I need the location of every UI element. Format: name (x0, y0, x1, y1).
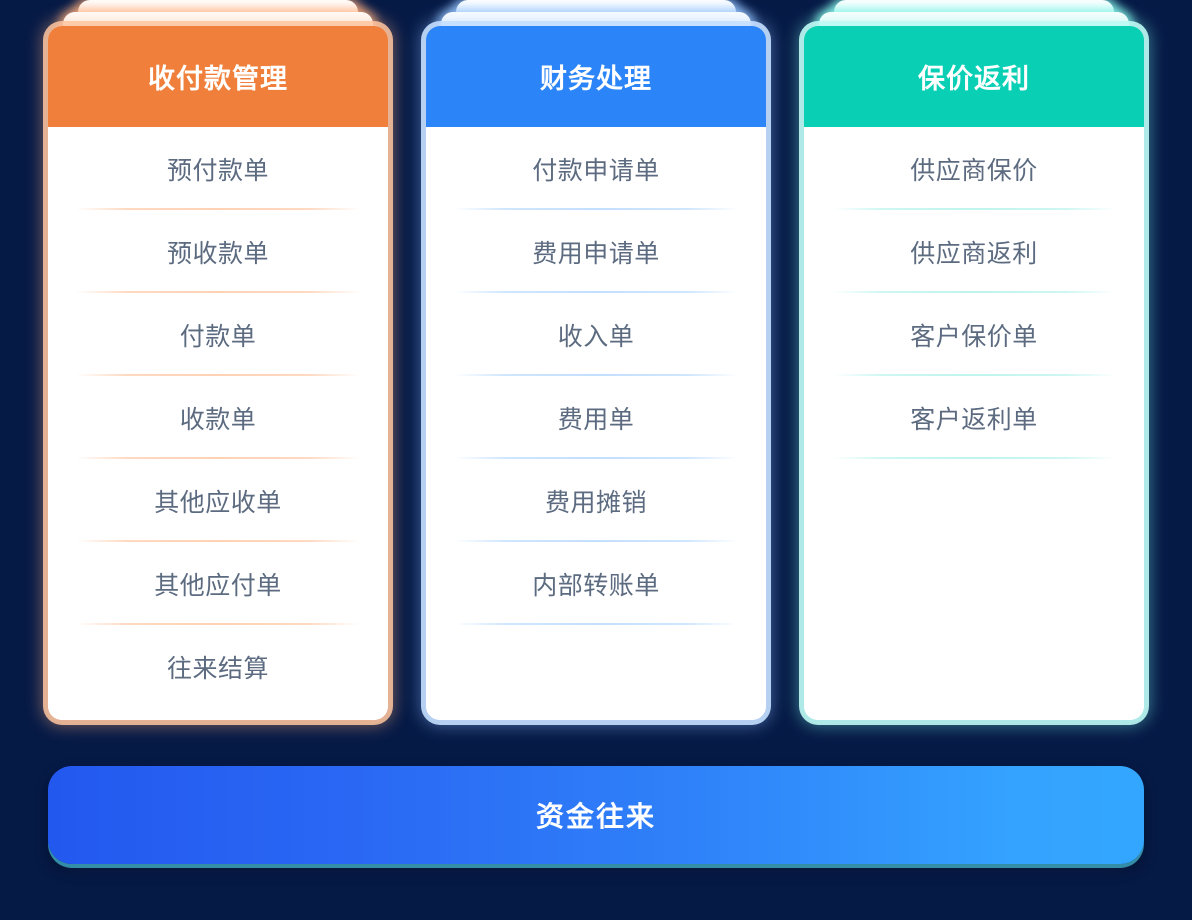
card-title: 财务处理 (540, 57, 652, 96)
card-price-protection-rebate[interactable]: 保价返利 供应商保价 供应商返利 客户保价单 客户返利单 (804, 26, 1144, 720)
card-header-price-protection-rebate: 保价返利 (804, 26, 1144, 127)
card-item-list-price-protection-rebate: 供应商保价 供应商返利 客户保价单 客户返利单 (804, 127, 1144, 720)
card-header-financial-processing: 财务处理 (426, 26, 766, 127)
card-title: 收付款管理 (148, 57, 288, 96)
card-title: 保价返利 (918, 57, 1030, 96)
footer-banner-funds-flow[interactable]: 资金往来 (48, 766, 1144, 864)
card-column-financial-processing: 财务处理 付款申请单 费用申请单 收入单 费用单 费用摊销 内部转账单 (426, 0, 766, 730)
list-item[interactable]: 收款单 (70, 376, 366, 459)
page-root: 收付款管理 预付款单 预收款单 付款单 收款单 其他应收单 其他应付单 往来结算 (0, 0, 1192, 920)
list-item[interactable]: 付款申请单 (448, 127, 744, 210)
card-item-list-financial-processing: 付款申请单 费用申请单 收入单 费用单 费用摊销 内部转账单 (426, 127, 766, 720)
list-item[interactable]: 内部转账单 (448, 542, 744, 625)
list-item[interactable]: 往来结算 (70, 625, 366, 708)
list-item[interactable]: 费用申请单 (448, 210, 744, 293)
list-item[interactable]: 收入单 (448, 293, 744, 376)
footer-banner-wrapper: 资金往来 (48, 766, 1144, 864)
card-header-receipts-payments: 收付款管理 (48, 26, 388, 127)
list-item[interactable]: 供应商返利 (826, 210, 1122, 293)
list-item[interactable]: 费用单 (448, 376, 744, 459)
list-item[interactable]: 预收款单 (70, 210, 366, 293)
footer-banner-label: 资金往来 (536, 795, 656, 835)
list-item[interactable]: 供应商保价 (826, 127, 1122, 210)
list-item[interactable]: 预付款单 (70, 127, 366, 210)
card-column-receipts-payments: 收付款管理 预付款单 预收款单 付款单 收款单 其他应收单 其他应付单 往来结算 (48, 0, 388, 730)
card-item-list-receipts-payments: 预付款单 预收款单 付款单 收款单 其他应收单 其他应付单 往来结算 (48, 127, 388, 720)
list-item[interactable]: 其他应收单 (70, 459, 366, 542)
list-item[interactable]: 客户返利单 (826, 376, 1122, 459)
card-column-price-protection-rebate: 保价返利 供应商保价 供应商返利 客户保价单 客户返利单 (804, 0, 1144, 730)
list-item[interactable]: 客户保价单 (826, 293, 1122, 376)
list-item[interactable]: 其他应付单 (70, 542, 366, 625)
card-group: 收付款管理 预付款单 预收款单 付款单 收款单 其他应收单 其他应付单 往来结算 (0, 0, 1192, 730)
list-item[interactable]: 付款单 (70, 293, 366, 376)
list-item[interactable]: 费用摊销 (448, 459, 744, 542)
card-receipts-payments[interactable]: 收付款管理 预付款单 预收款单 付款单 收款单 其他应收单 其他应付单 往来结算 (48, 26, 388, 720)
card-financial-processing[interactable]: 财务处理 付款申请单 费用申请单 收入单 费用单 费用摊销 内部转账单 (426, 26, 766, 720)
